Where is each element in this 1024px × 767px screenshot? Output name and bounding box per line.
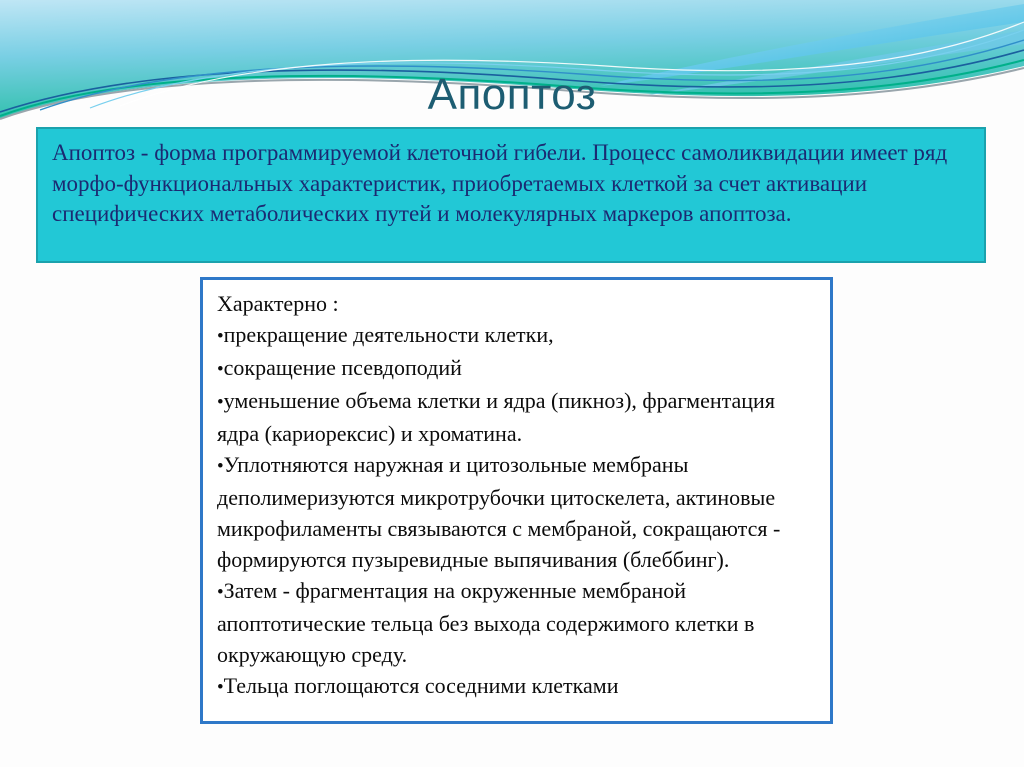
list-item-label: прекращение деятельности клетки, — [224, 322, 554, 347]
page-title: Апоптоз — [0, 70, 1024, 120]
list-item-label: уменьшение объема клетки и ядра (пикноз)… — [217, 388, 775, 446]
list-item: •прекращение деятельности клетки, — [217, 319, 820, 352]
details-box: Характерно : •прекращение деятельности к… — [200, 277, 833, 724]
presentation-slide: Апоптоз Апоптоз - форма программируемой … — [0, 0, 1024, 767]
list-item-label: сокращение псевдоподий — [224, 355, 462, 380]
list-item: •Уплотняются наружная и цитозольные мемб… — [217, 449, 820, 575]
intro-callout-box: Апоптоз - форма программируемой клеточно… — [36, 127, 986, 263]
bullet-icon: • — [217, 677, 224, 698]
list-item-label: Уплотняются наружная и цитозольные мембр… — [217, 452, 780, 572]
list-item: •сокращение псевдоподий — [217, 352, 820, 385]
list-item: •Тельца поглощаются соседними клетками — [217, 670, 820, 703]
details-heading: Характерно : — [217, 288, 820, 319]
bullet-icon: • — [217, 359, 224, 380]
bullet-icon: • — [217, 456, 224, 477]
list-item: •Затем - фрагментация на окруженные мемб… — [217, 575, 820, 670]
bullet-icon: • — [217, 392, 224, 413]
intro-paragraph: Апоптоз - форма программируемой клеточно… — [52, 138, 970, 230]
list-item: •уменьшение объема клетки и ядра (пикноз… — [217, 385, 820, 449]
details-bullet-list: •прекращение деятельности клетки,•сокращ… — [217, 319, 820, 703]
bullet-icon: • — [217, 326, 224, 347]
list-item-label: Затем - фрагментация на окруженные мембр… — [217, 578, 754, 667]
list-item-label: Тельца поглощаются соседними клетками — [224, 673, 619, 698]
bullet-icon: • — [217, 582, 224, 603]
